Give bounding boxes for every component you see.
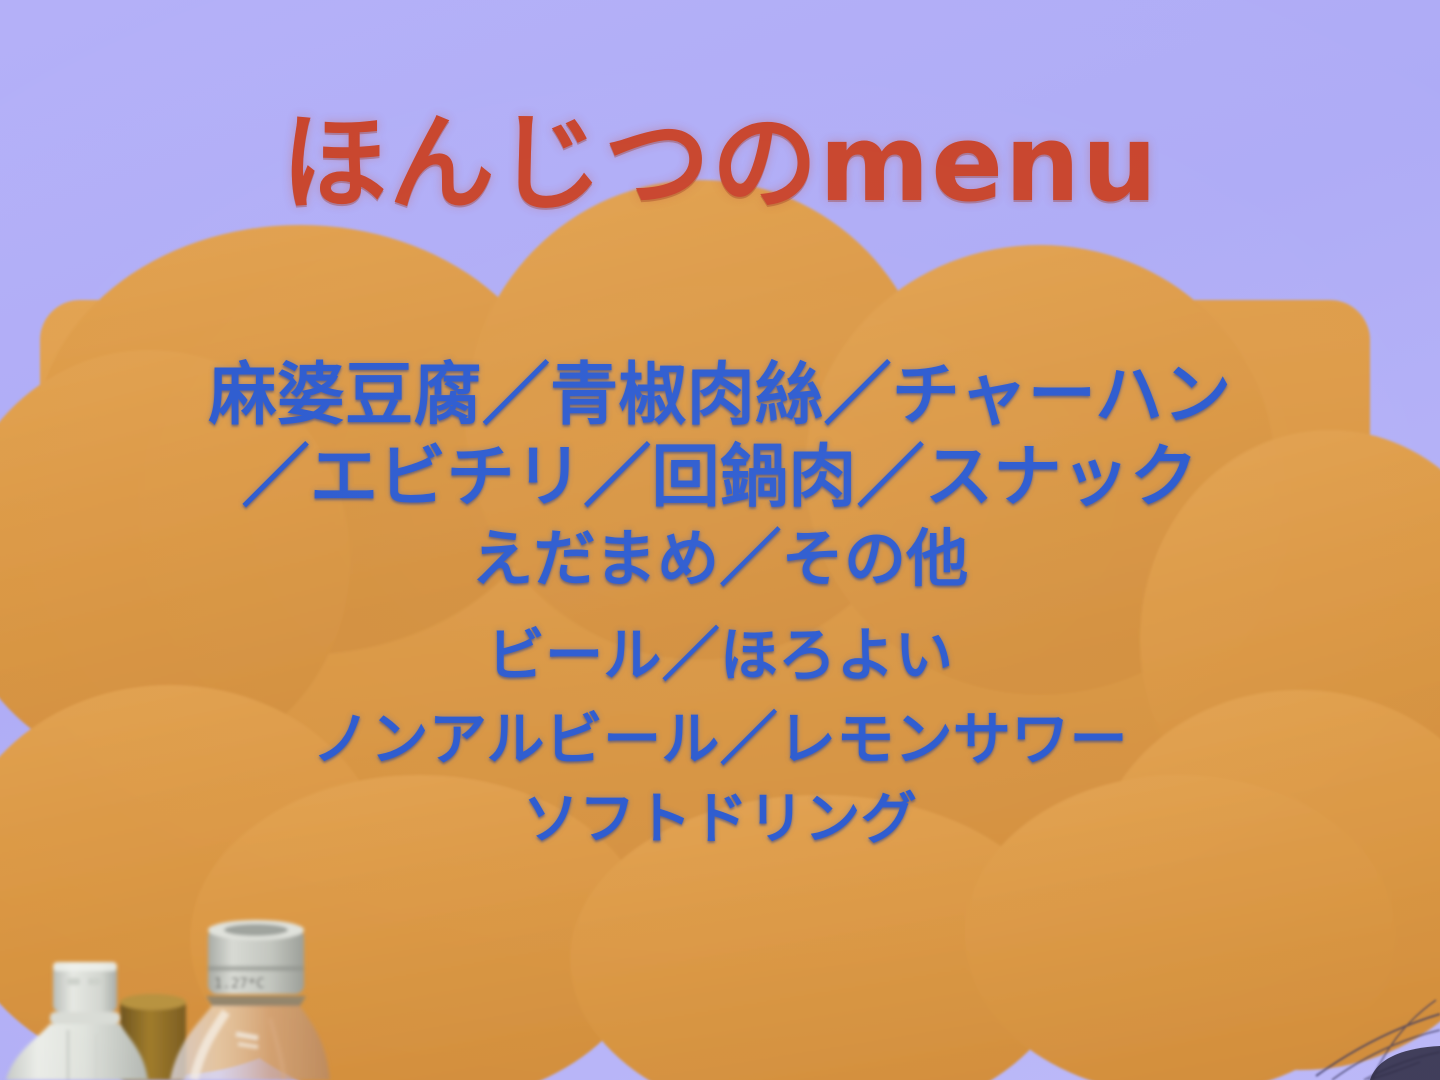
screenshot-root: ほんじつのmenu 麻婆豆腐／青椒肉絲／チャーハン ／エビチリ／回鍋肉／スナック… <box>0 0 1440 1080</box>
bottle-cap-lot-text: 1.27*C <box>214 976 265 992</box>
foreground-objects: 1.27*C <box>0 0 1440 1080</box>
bottle-right: 1.27*C <box>170 920 330 1080</box>
